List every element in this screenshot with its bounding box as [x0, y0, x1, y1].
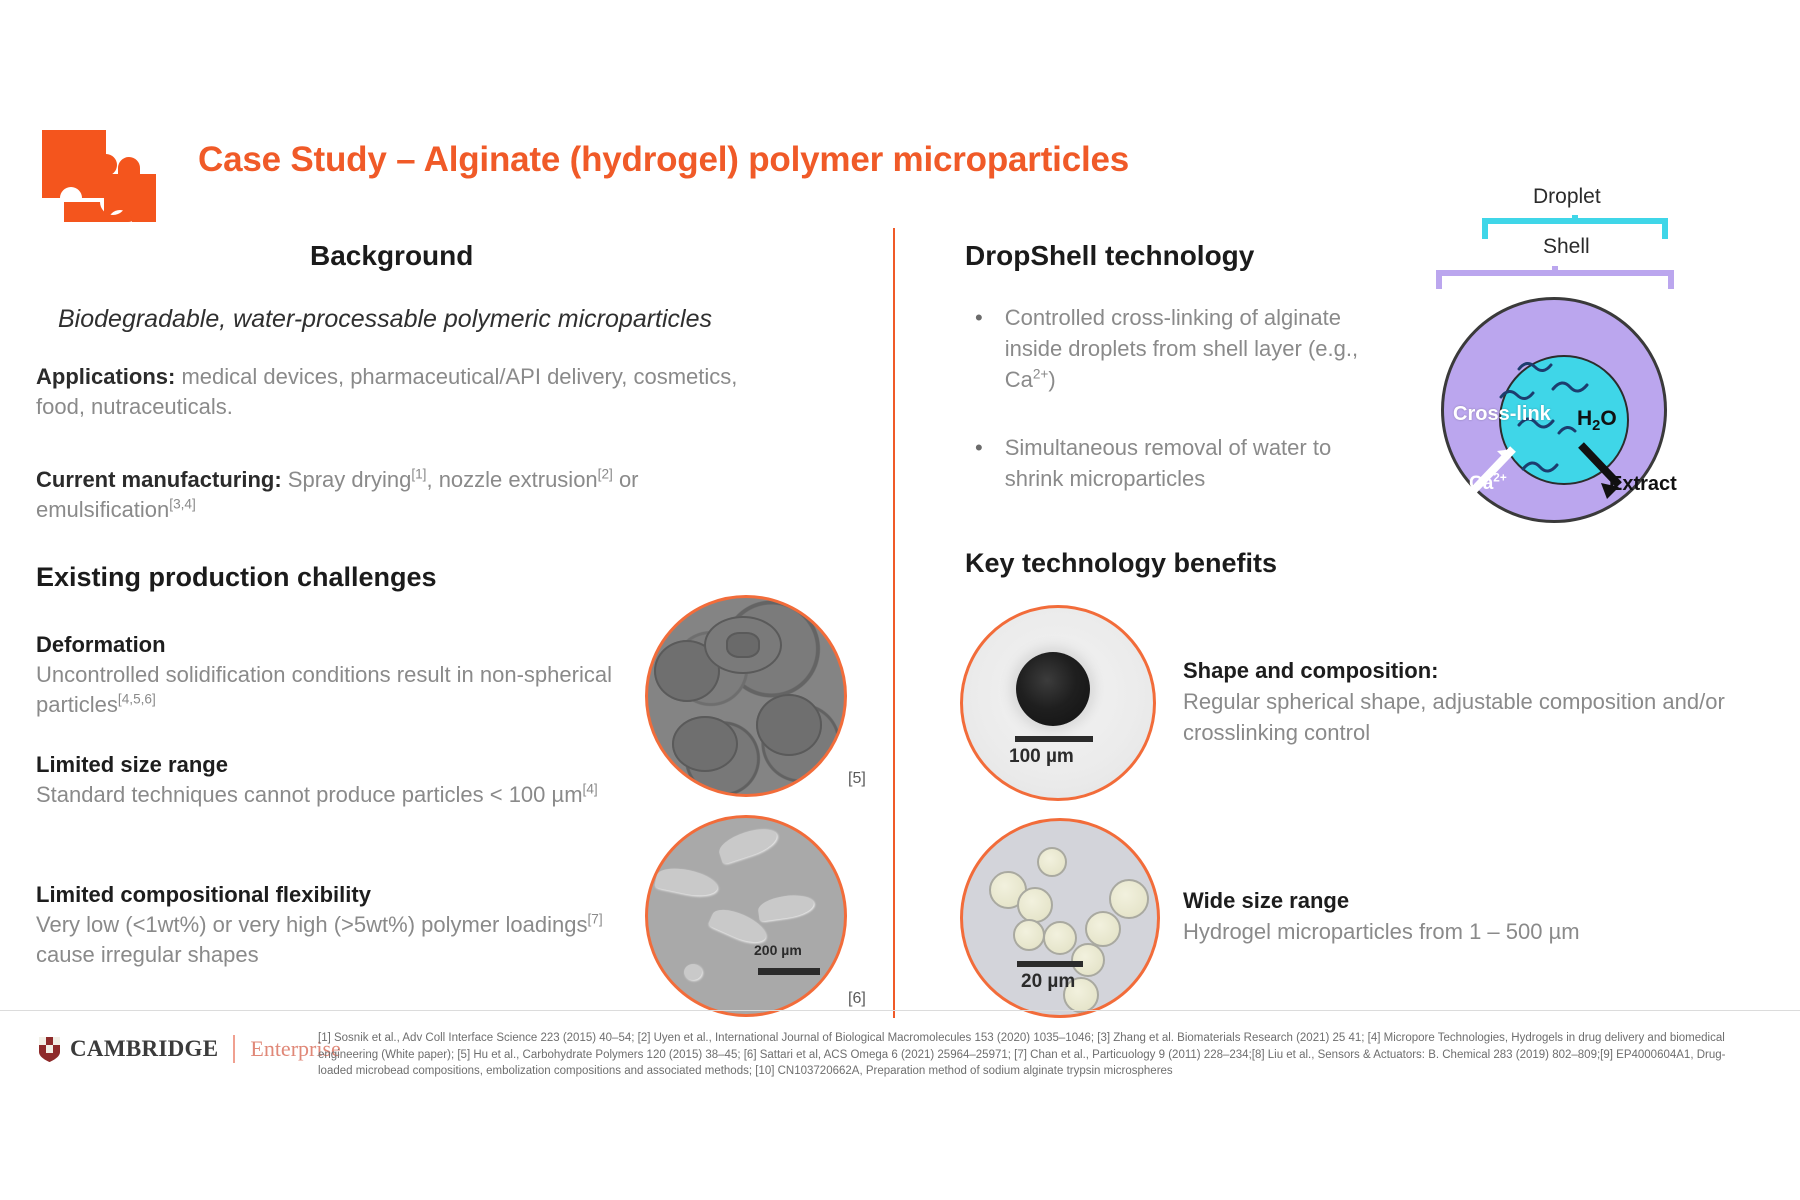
- scalebar-label: 200 µm: [754, 942, 802, 958]
- droplet-label: Droplet: [1533, 185, 1601, 209]
- benefit-title: Wide size range: [1183, 885, 1743, 916]
- shield-icon: [38, 1036, 61, 1063]
- manufacturing-text-1: Spray drying: [282, 467, 412, 492]
- puzzle-piece-icon: [40, 128, 158, 226]
- challenge-body-text: Very low (<1wt%) or very high (>5wt%) po…: [36, 912, 587, 937]
- manufacturing-paragraph: Current manufacturing: Spray drying[1], …: [36, 465, 766, 525]
- benefit-title: Shape and composition:: [1183, 655, 1743, 686]
- h2o-h: H: [1577, 407, 1592, 430]
- challenge-item: Deformation Uncontrolled solidification …: [36, 630, 616, 720]
- benefit-item: Shape and composition: Regular spherical…: [1183, 655, 1743, 748]
- challenge-title: Limited compositional flexibility: [36, 880, 616, 910]
- bullet-text: Controlled cross-linking of alginate ins…: [1005, 302, 1375, 395]
- benefit-item: Wide size range Hydrogel microparticles …: [1183, 885, 1743, 947]
- challenges-heading: Existing production challenges: [36, 562, 437, 593]
- ca-superscript: 2+: [1493, 472, 1506, 485]
- challenge-ref: [4]: [583, 782, 598, 797]
- manufacturing-ref-2: [2]: [598, 467, 613, 482]
- page-title: Case Study – Alginate (hydrogel) polymer…: [198, 140, 1129, 180]
- micrograph-deformed-particles: [645, 595, 847, 797]
- ca-text: Ca: [1469, 473, 1493, 494]
- image-reference: [6]: [848, 990, 866, 1008]
- challenge-body-text: Standard techniques cannot produce parti…: [36, 782, 583, 807]
- challenge-item: Limited size range Standard techniques c…: [36, 750, 616, 810]
- slide-canvas: Case Study – Alginate (hydrogel) polymer…: [0, 0, 1800, 1200]
- shell-brace-icon: [1435, 263, 1675, 293]
- manufacturing-text-2: , nozzle extrusion: [426, 467, 597, 492]
- particle-shape: [1016, 652, 1090, 726]
- challenge-item: Limited compositional flexibility Very l…: [36, 880, 616, 970]
- logo-primary-text: CAMBRIDGE: [70, 1036, 218, 1062]
- logo-separator: [233, 1035, 235, 1063]
- dropshell-bullet: • Simultaneous removal of water to shrin…: [975, 432, 1375, 494]
- manufacturing-ref-1: [1]: [411, 467, 426, 482]
- applications-paragraph: Applications: medical devices, pharmaceu…: [36, 362, 766, 422]
- micrograph-tailed-particles: 200 µm: [645, 815, 847, 1017]
- challenge-ref: [4,5,6]: [118, 692, 156, 707]
- benefits-heading: Key technology benefits: [965, 548, 1277, 579]
- manufacturing-label: Current manufacturing:: [36, 467, 282, 492]
- manufacturing-ref-3: [3,4]: [169, 497, 196, 512]
- extract-label: Extract: [1609, 473, 1677, 496]
- challenge-body-text: Uncontrolled solidification conditions r…: [36, 662, 612, 717]
- benefit-body: Regular spherical shape, adjustable comp…: [1183, 686, 1743, 748]
- challenge-title: Limited size range: [36, 750, 616, 780]
- micrograph-beads: 20 µm: [960, 818, 1160, 1018]
- scalebar-label: 20 µm: [1021, 971, 1075, 993]
- bullet-dot-icon: •: [975, 302, 983, 395]
- column-divider: [893, 228, 895, 1018]
- dropshell-bullet: • Controlled cross-linking of alginate i…: [975, 302, 1375, 395]
- h2o-o: O: [1600, 407, 1616, 430]
- bullet-dot-icon: •: [975, 432, 983, 494]
- challenge-body: Uncontrolled solidification conditions r…: [36, 660, 616, 720]
- footer-divider: [0, 1010, 1800, 1011]
- challenge-title: Deformation: [36, 630, 616, 660]
- bullet-text-tail: ): [1048, 367, 1055, 392]
- droplet-schematic-diagram: Droplet Shell Cross-link Ca2+: [1425, 185, 1785, 495]
- challenge-body: Very low (<1wt%) or very high (>5wt%) po…: [36, 910, 616, 970]
- benefit-body: Hydrogel microparticles from 1 – 500 µm: [1183, 916, 1743, 947]
- challenge-body-text-post: cause irregular shapes: [36, 942, 259, 967]
- droplet-brace-icon: [1481, 213, 1669, 243]
- image-reference: [5]: [848, 770, 866, 788]
- scalebar-label: 100 µm: [1009, 746, 1074, 768]
- references-footnote: [1] Sosnik et al., Adv Coll Interface Sc…: [318, 1030, 1758, 1080]
- challenge-body: Standard techniques cannot produce parti…: [36, 780, 616, 810]
- bullet-superscript: 2+: [1033, 367, 1049, 382]
- cambridge-enterprise-logo: CAMBRIDGE Enterprise: [38, 1035, 341, 1063]
- water-label: H2O: [1577, 407, 1617, 434]
- bullet-text: Simultaneous removal of water to shrink …: [1005, 432, 1375, 494]
- background-subtitle: Biodegradable, water-processable polymer…: [58, 305, 858, 334]
- crosslink-label: Cross-link: [1453, 403, 1551, 426]
- background-heading: Background: [310, 240, 473, 272]
- dropshell-heading: DropShell technology: [965, 240, 1254, 272]
- bullet-text-main: Controlled cross-linking of alginate ins…: [1005, 305, 1358, 392]
- challenge-ref: [7]: [587, 912, 602, 927]
- applications-label: Applications:: [36, 364, 175, 389]
- calcium-ion-label: Ca2+: [1469, 473, 1507, 495]
- micrograph-spherical-particle: 100 µm: [960, 605, 1156, 801]
